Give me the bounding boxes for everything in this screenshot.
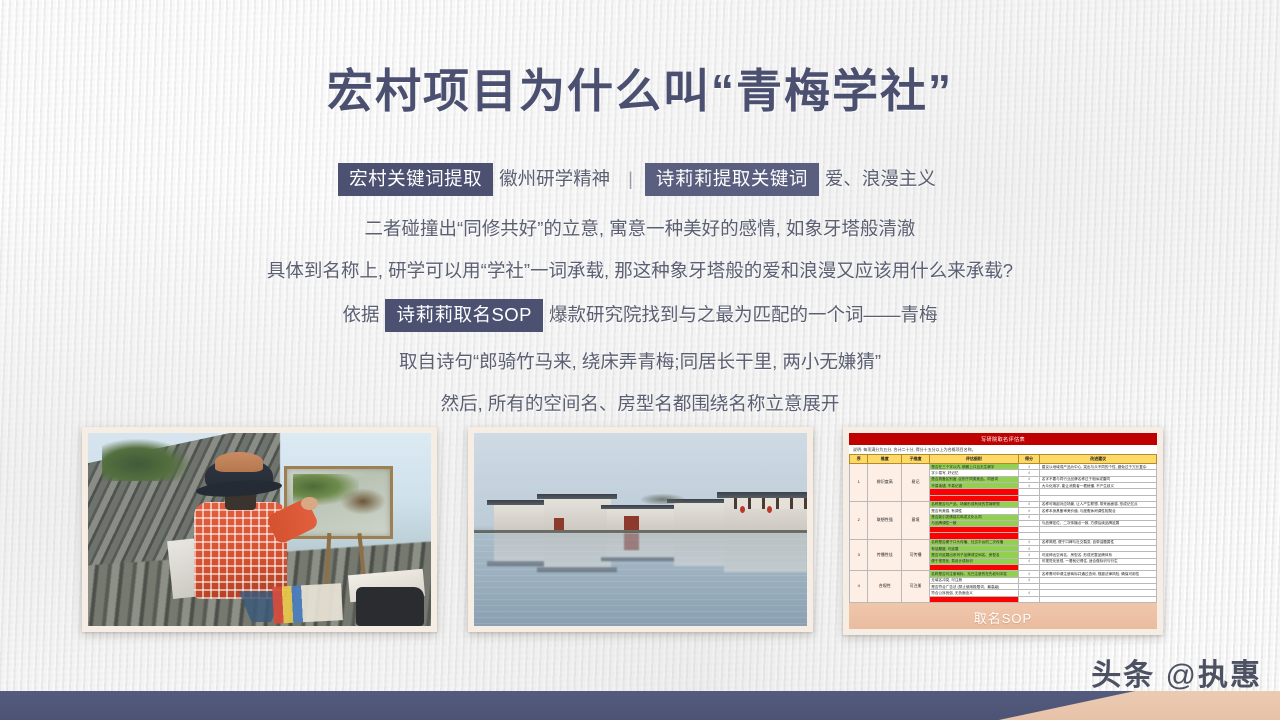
paint-kit-decor bbox=[272, 584, 342, 624]
cell-sub: 可注册 bbox=[902, 571, 930, 603]
cell-cat: 辨识度高 bbox=[868, 464, 902, 502]
cell-idx: 3 bbox=[850, 539, 868, 571]
footer-navy-bar bbox=[0, 691, 1135, 720]
bag-decor bbox=[356, 587, 425, 626]
building-decor bbox=[674, 500, 727, 533]
statement-line-2: 二者碰撞出“同修共好”的立意, 寓意一种美好的感情, 如象牙塔般清澈 bbox=[0, 215, 1280, 243]
painter-hand-decor bbox=[301, 497, 318, 511]
value-huizhou-spirit: 徽州研学精神 bbox=[493, 165, 616, 193]
image-painter-on-stone-steps bbox=[88, 433, 431, 626]
cell-cat: 联想性强 bbox=[868, 501, 902, 539]
image-naming-sop-spreadsheet: 写研院取名评估表 说明: 每项满分为五分, 合计二十分, 得分十五分以上为合格项… bbox=[849, 433, 1157, 629]
sop-prefix: 依据 bbox=[336, 301, 385, 329]
photo-frame-painter bbox=[82, 427, 437, 632]
row-separator: | bbox=[616, 165, 645, 193]
watermark-account: 执惠 bbox=[1198, 659, 1262, 692]
watermark-at-symbol: @ bbox=[1166, 659, 1198, 692]
col-score: 得分 bbox=[1018, 455, 1039, 464]
reflection-decor bbox=[474, 533, 807, 583]
tree-decor bbox=[641, 494, 684, 504]
sop-table-body: 1辨识度高易记是否在三个字以内, 朗朗上口且无生僻字√建议以地域或产品为中心, … bbox=[850, 464, 1157, 603]
cell-sub: 易记 bbox=[902, 464, 930, 502]
watermark-platform: 头条 bbox=[1091, 659, 1155, 692]
col-rule: 评估细则 bbox=[929, 455, 1018, 464]
cell-sub: 可传播 bbox=[902, 539, 930, 571]
statement-line-3: 具体到名称上, 研学可以用“学社”一词承载, 那这种象牙塔般的爱和浪漫又应该用什… bbox=[0, 257, 1280, 285]
reflection-building bbox=[674, 533, 727, 566]
page-title: 宏村项目为什么叫“青梅学社” bbox=[0, 55, 1280, 121]
statement-line-6: 然后, 所有的空间名、房型名都围绕名称立意展开 bbox=[0, 390, 1280, 418]
value-love-romanticism: 爱、浪漫主义 bbox=[819, 165, 942, 193]
col-sub: 子维度 bbox=[902, 455, 930, 464]
reflection-roof bbox=[537, 567, 617, 572]
badge-shilili-naming-sop: 诗莉莉取名SOP bbox=[385, 299, 543, 332]
cell-cat: 传播性佳 bbox=[868, 539, 902, 571]
sop-suffix: 爆款研究院找到与之最为匹配的一个词——青梅 bbox=[543, 301, 944, 329]
village-skyline-decor bbox=[474, 483, 807, 533]
cell-cat: 合规性 bbox=[868, 571, 902, 603]
cell-advice bbox=[1040, 596, 1157, 602]
photo-frame-village bbox=[468, 427, 813, 632]
image-hongcun-village-reflection bbox=[474, 433, 807, 626]
hat-crown-decor bbox=[215, 452, 263, 471]
col-idx: 序 bbox=[850, 455, 868, 464]
table-header-row: 序 维度 子维度 评估细则 得分 改进建议 bbox=[850, 455, 1157, 464]
cell-score bbox=[1018, 596, 1039, 602]
body-text-block: 宏村关键词提取徽州研学精神|诗莉莉提取关键词爱、浪漫主义 二者碰撞出“同修共好”… bbox=[0, 163, 1280, 432]
reflection-building bbox=[494, 533, 551, 564]
sop-caption: 取名SOP bbox=[849, 603, 1157, 629]
cell-rule: 避免侵权风险, 规避驰名商标 bbox=[929, 596, 1018, 602]
cell-idx: 4 bbox=[850, 571, 868, 603]
cell-sub: 意境 bbox=[902, 501, 930, 539]
photo-frame-sop-sheet: 写研院取名评估表 说明: 每项满分为五分, 合计二十分, 得分十五分以上为合格项… bbox=[843, 427, 1163, 635]
foliage-decor bbox=[102, 439, 191, 481]
cell-idx: 1 bbox=[850, 464, 868, 502]
slide-canvas: 宏村项目为什么叫“青梅学社” 宏村关键词提取徽州研学精神|诗莉莉提取关键词爱、浪… bbox=[0, 0, 1280, 720]
sheet-title: 写研院取名评估表 bbox=[849, 433, 1157, 445]
col-cat: 维度 bbox=[868, 455, 902, 464]
col-advice: 改进建议 bbox=[1040, 455, 1157, 464]
reflection-door bbox=[624, 533, 639, 550]
badge-hongcun-keyword: 宏村关键词提取 bbox=[338, 163, 493, 196]
sop-row: 依据诗莉莉取名SOP爆款研究院找到与之最为匹配的一个词——青梅 bbox=[0, 299, 1280, 332]
roof-decor bbox=[717, 492, 807, 498]
badge-shilili-keyword: 诗莉莉提取关键词 bbox=[645, 163, 819, 196]
sheet-note: 说明: 每项满分为五分, 合计二十分, 得分十五分以上为合格项目名称。 bbox=[849, 445, 1157, 454]
reflection-building bbox=[544, 533, 611, 570]
photo-row: 写研院取名评估表 说明: 每项满分为五分, 合计二十分, 得分十五分以上为合格项… bbox=[0, 425, 1280, 640]
watermark: 头条 @执惠 bbox=[1091, 650, 1262, 694]
keyword-row: 宏村关键词提取徽州研学精神|诗莉莉提取关键词爱、浪漫主义 bbox=[0, 163, 1280, 196]
reflection-building bbox=[724, 533, 807, 572]
statement-line-5: 取自诗句“郎骑竹马来, 绕床弄青梅;同居长干里, 两小无嫌猜” bbox=[0, 348, 1280, 376]
cell-idx: 2 bbox=[850, 501, 868, 539]
sop-table: 序 维度 子维度 评估细则 得分 改进建议 1辨识度高易记是否在三个字以内, 朗… bbox=[849, 454, 1157, 603]
roof-decor bbox=[537, 494, 617, 499]
